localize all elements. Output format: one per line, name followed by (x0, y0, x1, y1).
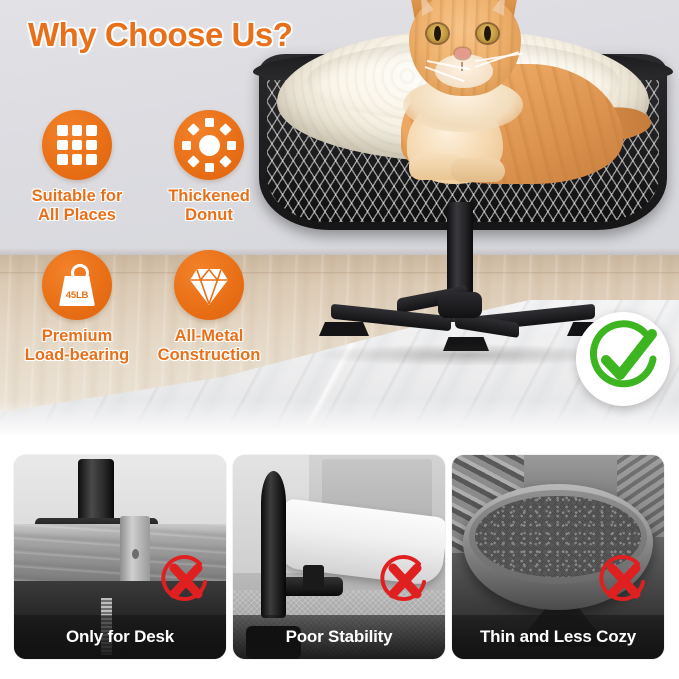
feature-all-metal-construction: All-Metal Construction (134, 250, 284, 365)
feature-icon-circle: 45LB (42, 250, 112, 320)
feature-thickened-donut: Thickened Donut (134, 110, 284, 225)
base-foot-left (319, 322, 369, 336)
cat-pupil-right (484, 26, 491, 41)
feature-label-line2: Load-bearing (25, 346, 130, 364)
feature-suitable-for-all-places: Suitable for All Places (2, 110, 152, 225)
feature-label: All-Metal Construction (134, 327, 284, 365)
cat-paw-right (451, 158, 505, 182)
panel-caption: Thin and Less Cozy (452, 615, 664, 659)
comparison-panel-stability: Poor Stability (233, 455, 445, 659)
feature-label: Thickened Donut (134, 187, 284, 225)
feature-label-line1: Suitable for (32, 187, 123, 205)
comparison-section: Only for Desk Poor Stability (0, 437, 679, 679)
grid-icon (57, 125, 97, 165)
feature-icon-circle (174, 250, 244, 320)
red-x-icon (158, 553, 214, 609)
feature-icon-circle (42, 110, 112, 180)
feature-label: Suitable for All Places (2, 187, 152, 225)
cat-nose (455, 48, 470, 59)
feature-label-line2: All Places (38, 206, 116, 224)
comparison-panel-desk: Only for Desk (14, 455, 226, 659)
feature-label-line1: All-Metal (175, 327, 244, 345)
feature-label-line2: Construction (158, 346, 261, 364)
base-center-hub (438, 292, 482, 318)
feature-label: Premium Load-bearing (2, 327, 152, 365)
feature-icon-circle (174, 110, 244, 180)
panel-caption: Poor Stability (233, 615, 445, 659)
page-title: Why Choose Us? (28, 16, 292, 54)
feature-label-line2: Donut (185, 206, 233, 224)
product-shadow (317, 344, 617, 366)
weight-icon: 45LB (59, 264, 95, 306)
diamond-icon (188, 266, 230, 306)
product-feature-image: Why Choose Us? Suitable for All Places (0, 0, 679, 679)
red-x-icon (596, 553, 652, 609)
cat (367, 0, 627, 198)
panel-caption: Only for Desk (14, 615, 226, 659)
hero-section: Why Choose Us? Suitable for All Places (0, 0, 679, 437)
feature-label-line1: Thickened (168, 187, 250, 205)
approved-badge (576, 312, 670, 406)
comparison-panel-cozy: Thin and Less Cozy (452, 455, 664, 659)
cat-pupil-left (434, 26, 441, 41)
feature-premium-load-bearing: 45LB Premium Load-bearing (2, 250, 152, 365)
weight-icon-text: 45LB (59, 290, 95, 301)
feature-label-line1: Premium (42, 327, 113, 345)
red-x-icon (377, 553, 433, 609)
green-check-icon (576, 312, 670, 406)
